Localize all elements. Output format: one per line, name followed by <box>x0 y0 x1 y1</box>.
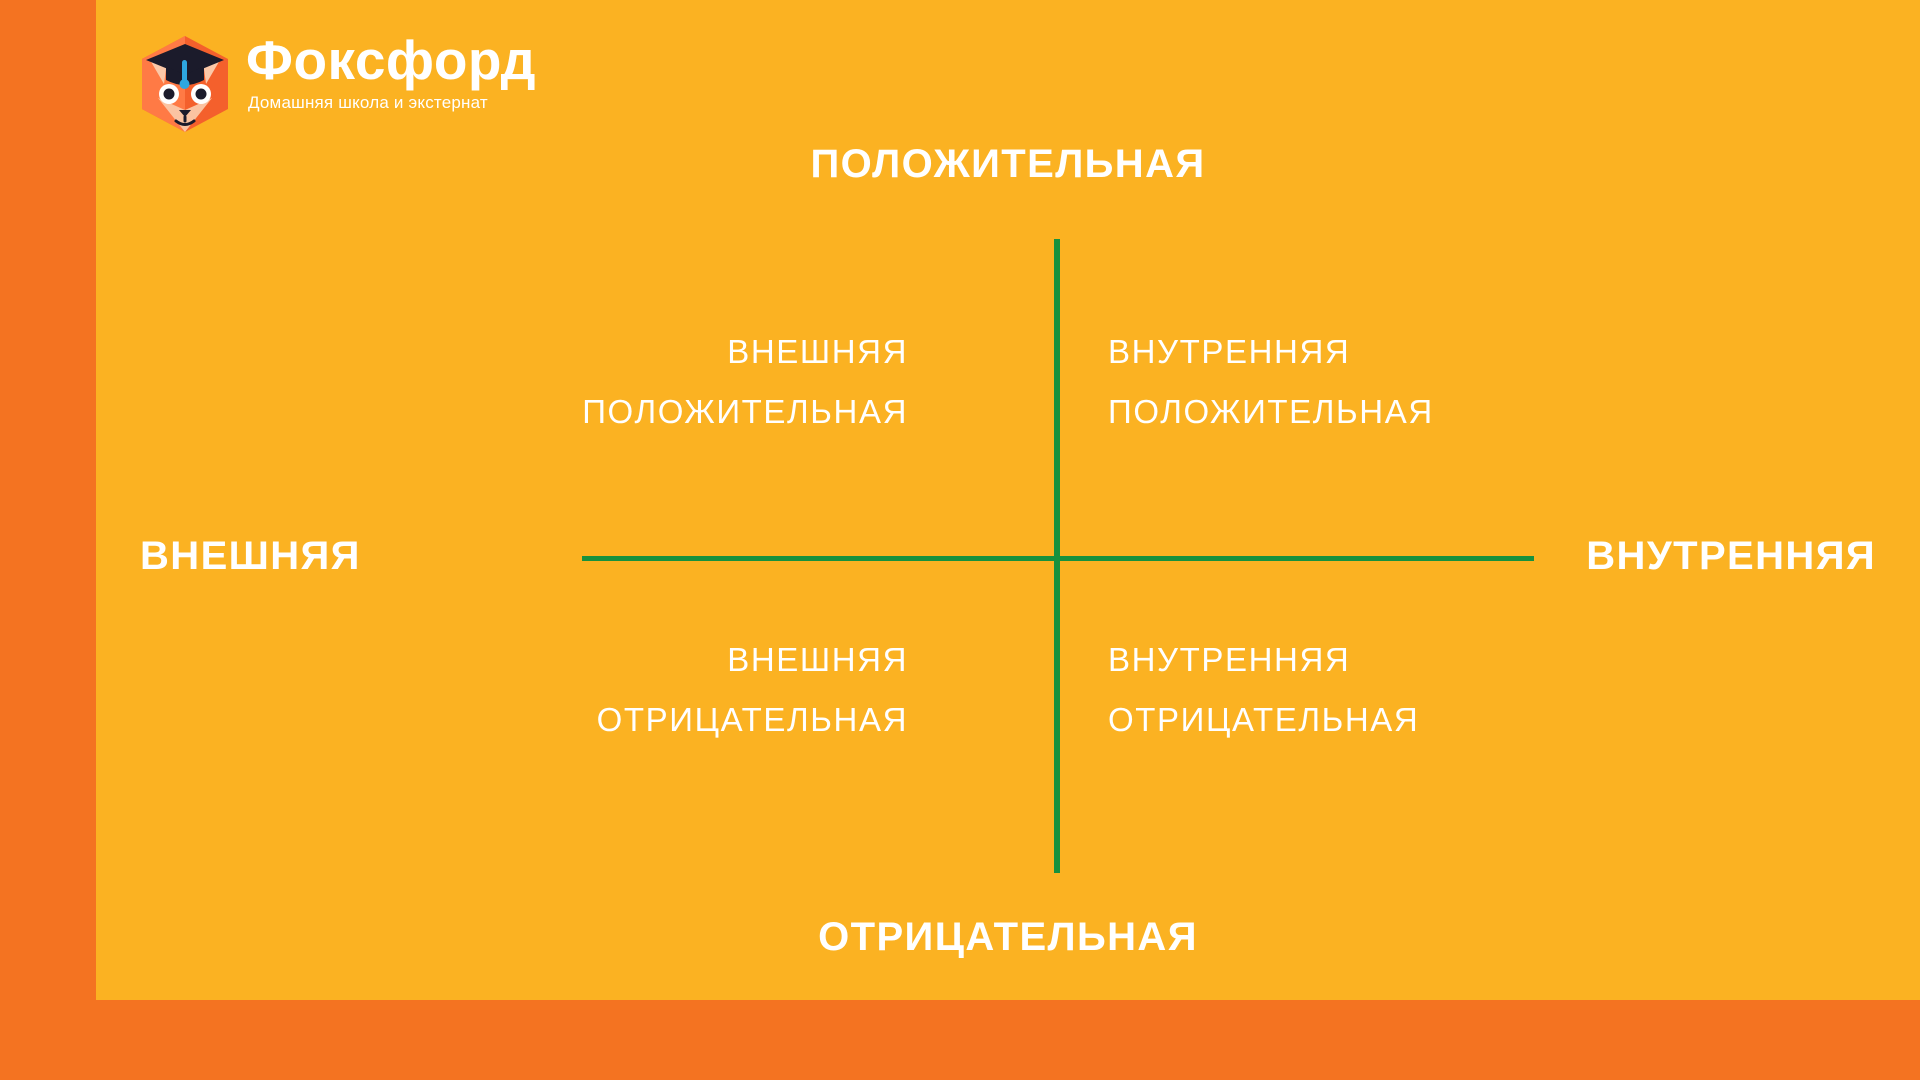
quadrant-label-external-negative: ВНЕШНЯЯ ОТРИЦАТЕЛЬНАЯ <box>597 630 908 750</box>
axis-label-positive: ПОЛОЖИТЕЛЬНАЯ <box>96 140 1920 188</box>
brand-wordmark: Фоксфорд <box>246 28 616 92</box>
quadrant-line-2: ОТРИЦАТЕЛЬНАЯ <box>597 690 908 750</box>
content-panel: Фоксфорд Домашняя школа и экстернат ПОЛО… <box>96 0 1920 1000</box>
axis-horizontal <box>582 556 1534 561</box>
fox-graduate-icon <box>138 32 232 136</box>
axis-label-internal: ВНУТРЕННЯЯ <box>1586 532 1876 580</box>
quadrant-label-external-positive: ВНЕШНЯЯ ПОЛОЖИТЕЛЬНАЯ <box>582 322 908 442</box>
axis-label-negative: ОТРИЦАТЕЛЬНАЯ <box>96 913 1920 961</box>
quadrant-line-1: ВНУТРЕННЯЯ <box>1108 630 1419 690</box>
axis-label-external: ВНЕШНЯЯ <box>140 532 361 580</box>
quadrant-label-internal-positive: ВНУТРЕННЯЯ ПОЛОЖИТЕЛЬНАЯ <box>1108 322 1434 442</box>
quadrant-line-2: ПОЛОЖИТЕЛЬНАЯ <box>1108 382 1434 442</box>
quadrant-line-2: ОТРИЦАТЕЛЬНАЯ <box>1108 690 1419 750</box>
brand-tagline: Домашняя школа и экстернат <box>246 92 616 114</box>
quadrant-line-1: ВНЕШНЯЯ <box>597 630 908 690</box>
brand-logo: Фоксфорд Домашняя школа и экстернат <box>138 26 618 136</box>
quadrant-line-1: ВНЕШНЯЯ <box>582 322 908 382</box>
brand-text: Фоксфорд Домашняя школа и экстернат <box>246 28 616 114</box>
quadrant-line-1: ВНУТРЕННЯЯ <box>1108 322 1434 382</box>
quadrant-line-2: ПОЛОЖИТЕЛЬНАЯ <box>582 382 908 442</box>
quadrant-label-internal-negative: ВНУТРЕННЯЯ ОТРИЦАТЕЛЬНАЯ <box>1108 630 1419 750</box>
slide-root: Фоксфорд Домашняя школа и экстернат ПОЛО… <box>0 0 1920 1080</box>
